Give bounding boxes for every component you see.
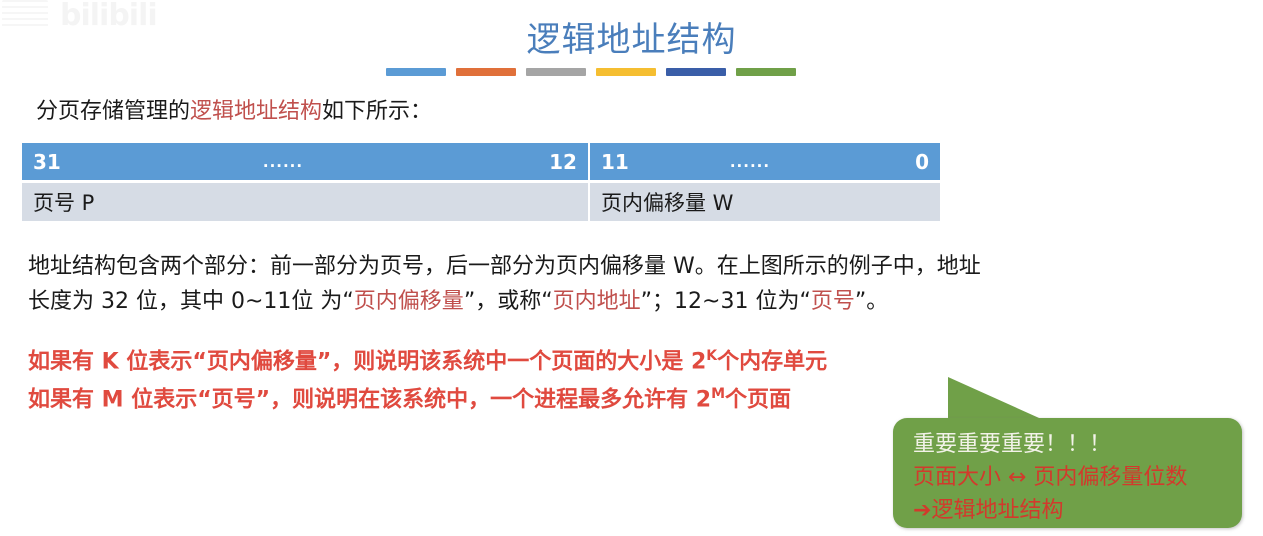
conclusion-2-exponent: M	[711, 386, 725, 402]
callout-pointer-tail	[948, 377, 1048, 422]
table-body-row: 页号 P 页内偏移量 W	[22, 183, 940, 221]
callout-line-important: 重要重要重要！！！	[913, 426, 1111, 458]
table-header-row: 31 ...... 12 11 ...... 0	[22, 143, 940, 180]
paragraph-line2-part-b: ”，或称“	[464, 289, 553, 314]
bit-31-label: 31	[33, 150, 61, 174]
accent-bar-darkblue	[666, 68, 726, 76]
conclusion-1-text-a: 如果有 K 位表示“页内偏移量”，则说明该系统中一个页面的大小是 2	[28, 349, 706, 374]
logical-address-structure-table: 31 ...... 12 11 ...... 0 页号 P 页内偏移量 W	[22, 143, 940, 221]
paragraph-highlight-offset: 页内偏移量	[354, 289, 464, 314]
paragraph-highlight-inpage-address: 页内地址	[553, 289, 641, 314]
paragraph-highlight-page-number: 页号	[811, 289, 855, 314]
intro-line: 分页存储管理的逻辑地址结构如下所示：	[36, 93, 432, 125]
accent-bar-orange	[456, 68, 516, 76]
conclusion-1-exponent: K	[706, 348, 717, 364]
conclusion-2-text-b: 个页面	[725, 388, 791, 413]
header-cell-page-number-bits: 31 ...... 12	[22, 143, 590, 180]
callout-line-relationship: 页面大小 ↔ 页内偏移量位数	[913, 459, 1187, 491]
paragraph-line-1: 地址结构包含两个部分：前一部分为页号，后一部分为页内偏移量 W。在上图所示的例子…	[28, 249, 1148, 284]
explanation-paragraph: 地址结构包含两个部分：前一部分为页号，后一部分为页内偏移量 W。在上图所示的例子…	[28, 249, 1148, 319]
header-cell-offset-bits: 11 ...... 0	[590, 143, 940, 180]
callout-line-structure: ➔逻辑地址结构	[913, 492, 1063, 524]
paragraph-line-2: 长度为 32 位，其中 0~11位 为“页内偏移量”，或称“页内地址”；12~3…	[28, 284, 1148, 319]
conclusion-line-page-size: 如果有 K 位表示“页内偏移量”，则说明该系统中一个页面的大小是 2K个内存单元	[28, 340, 827, 378]
paragraph-line2-part-d: ”。	[855, 289, 888, 314]
intro-highlight: 逻辑地址结构	[190, 99, 322, 124]
conclusion-line-page-count: 如果有 M 位表示“页号”，则说明在该系统中，一个进程最多允许有 2M个页面	[28, 378, 827, 416]
accent-bar-gold	[596, 68, 656, 76]
page-title: 逻辑地址结构	[0, 12, 1263, 61]
arrow-right-icon: ➔	[913, 498, 931, 523]
right-dots: ......	[730, 153, 770, 171]
intro-text-part2: 如下所示：	[322, 99, 432, 124]
bit-12-label: 12	[549, 150, 577, 174]
bit-11-label: 11	[601, 150, 629, 174]
key-conclusion-block: 如果有 K 位表示“页内偏移量”，则说明该系统中一个页面的大小是 2K个内存单元…	[28, 340, 827, 417]
conclusion-1-text-b: 个内存单元	[717, 349, 827, 374]
accent-bar-blue	[386, 68, 446, 76]
accent-bar-gray	[526, 68, 586, 76]
left-dots: ......	[263, 153, 303, 171]
paragraph-line2-part-a: 长度为 32 位，其中 0~11位 为“	[28, 289, 354, 314]
cell-page-number: 页号 P	[22, 183, 590, 221]
callout-line3-label: 逻辑地址结构	[931, 498, 1063, 523]
title-accent-bars	[386, 68, 796, 76]
conclusion-2-text-a: 如果有 M 位表示“页号”，则说明在该系统中，一个进程最多允许有 2	[28, 388, 711, 413]
accent-bar-green	[736, 68, 796, 76]
bit-0-label: 0	[915, 150, 929, 174]
paragraph-line2-part-c: ”；12~31 位为“	[641, 289, 811, 314]
important-callout-box: 重要重要重要！！！ 页面大小 ↔ 页内偏移量位数 ➔逻辑地址结构	[893, 418, 1242, 528]
intro-text-part1: 分页存储管理的	[36, 99, 190, 124]
cell-page-offset: 页内偏移量 W	[590, 183, 940, 221]
